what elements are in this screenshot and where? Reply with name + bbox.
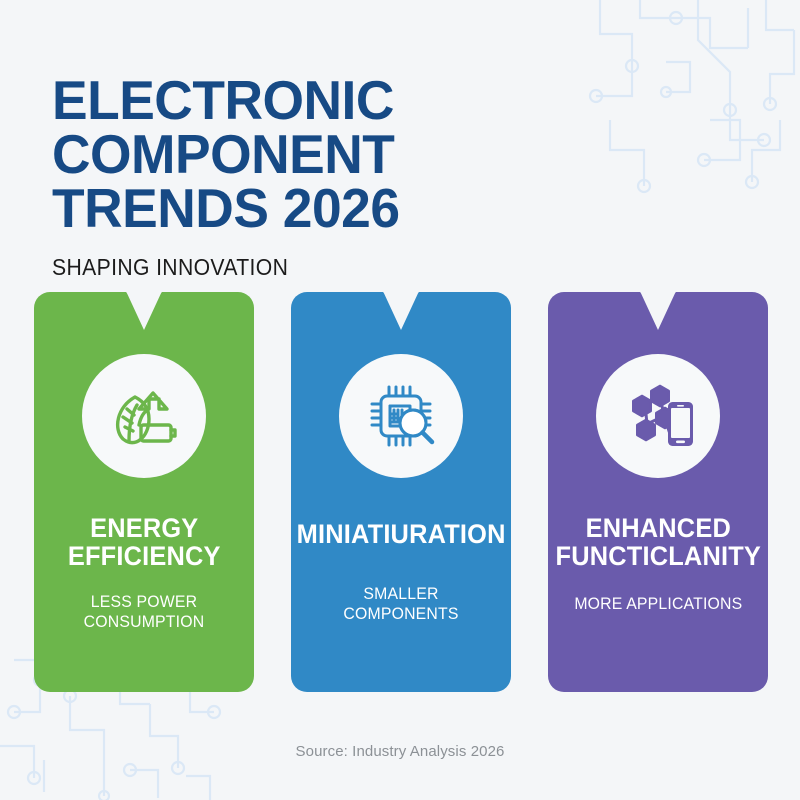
hexagon-network-smartphone-icon bbox=[620, 378, 696, 454]
trend-card-miniatiuration[interactable]: MINIATIURATION SMALLER COMPONENTS bbox=[291, 292, 511, 692]
leaf-arrow-battery-icon bbox=[105, 377, 183, 455]
card-subtitle: LESS POWER CONSUMPTION bbox=[42, 592, 247, 632]
icon-badge bbox=[596, 354, 720, 478]
card-notch bbox=[640, 292, 676, 314]
card-subtitle-slot: LESS POWER CONSUMPTION bbox=[34, 592, 254, 632]
microchip-magnifier-icon bbox=[363, 378, 439, 454]
icon-badge bbox=[82, 354, 206, 478]
card-subtitle-slot: MORE APPLICATIONS bbox=[548, 594, 768, 614]
card-title-slot: ENERGY EFFICIENCY bbox=[34, 514, 254, 570]
card-title: ENHANCED FUNCTICLANITY bbox=[546, 514, 770, 570]
page-title: ELECTRONIC COMPONENT TRENDS 2026 bbox=[52, 74, 712, 236]
card-title-slot: MINIATIURATION bbox=[291, 520, 511, 548]
source-note: Source: Industry Analysis 2026 bbox=[0, 743, 800, 760]
trend-card-energy-efficiency[interactable]: ENERGY EFFICIENCY LESS POWER CONSUMPTION bbox=[34, 292, 254, 692]
trend-card-enhanced-functiclanity[interactable]: ENHANCED FUNCTICLANITY MORE APPLICATIONS bbox=[548, 292, 768, 692]
infographic-canvas: ELECTRONIC COMPONENT TRENDS 2026 SHAPING… bbox=[0, 0, 800, 800]
card-notch bbox=[126, 292, 162, 314]
trend-card-list: ENERGY EFFICIENCY LESS POWER CONSUMPTION bbox=[34, 292, 768, 692]
card-subtitle-slot: SMALLER COMPONENTS bbox=[291, 584, 511, 624]
page-subtitle: SHAPING INNOVATION bbox=[52, 254, 678, 281]
card-subtitle: MORE APPLICATIONS bbox=[568, 594, 747, 614]
card-title: ENERGY EFFICIENCY bbox=[58, 514, 230, 570]
card-subtitle: SMALLER COMPONENTS bbox=[299, 584, 504, 624]
header: ELECTRONIC COMPONENT TRENDS 2026 SHAPING… bbox=[52, 74, 732, 281]
card-title-slot: ENHANCED FUNCTICLANITY bbox=[548, 514, 768, 570]
card-title: MINIATIURATION bbox=[287, 520, 515, 548]
card-notch bbox=[383, 292, 419, 314]
icon-badge bbox=[339, 354, 463, 478]
